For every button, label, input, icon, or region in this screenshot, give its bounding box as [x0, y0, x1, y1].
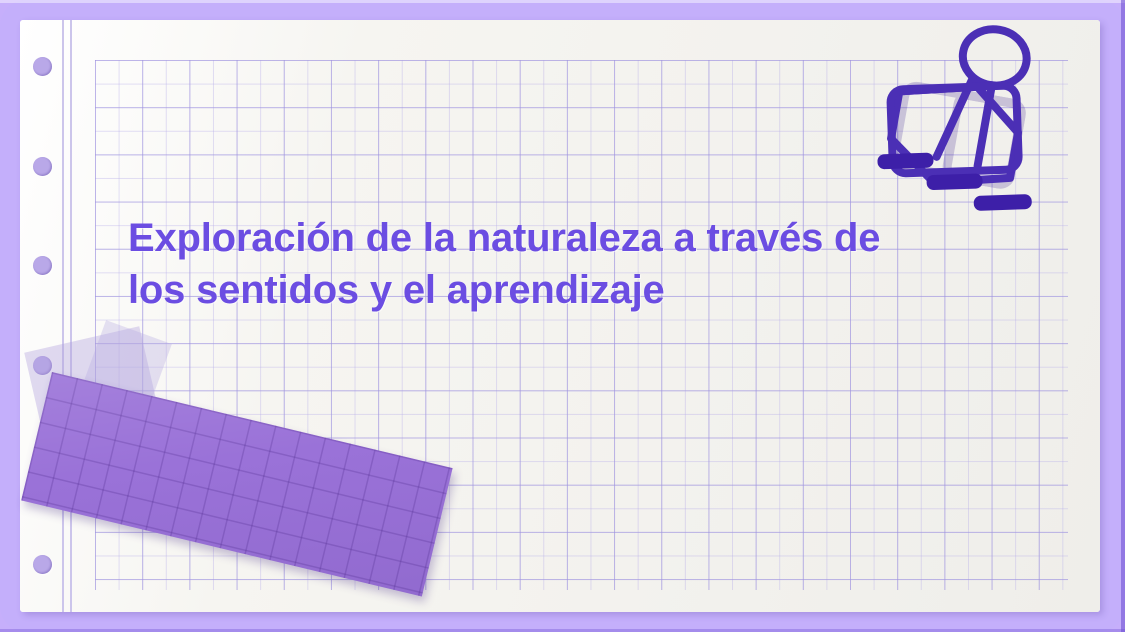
slide-canvas: Exploración de la naturaleza a través de… — [0, 0, 1125, 632]
punch-hole — [33, 256, 52, 275]
margin-rule-line-2 — [70, 20, 72, 612]
punch-hole — [33, 57, 52, 76]
punch-hole — [33, 555, 52, 574]
frame-highlight-top — [0, 0, 1125, 3]
page-title: Exploración de la naturaleza a través de… — [128, 212, 1008, 316]
binder-clip-icon — [880, 12, 1060, 222]
margin-rule-line-1 — [62, 20, 64, 612]
punch-hole — [33, 157, 52, 176]
frame-edge-right — [1121, 0, 1125, 632]
